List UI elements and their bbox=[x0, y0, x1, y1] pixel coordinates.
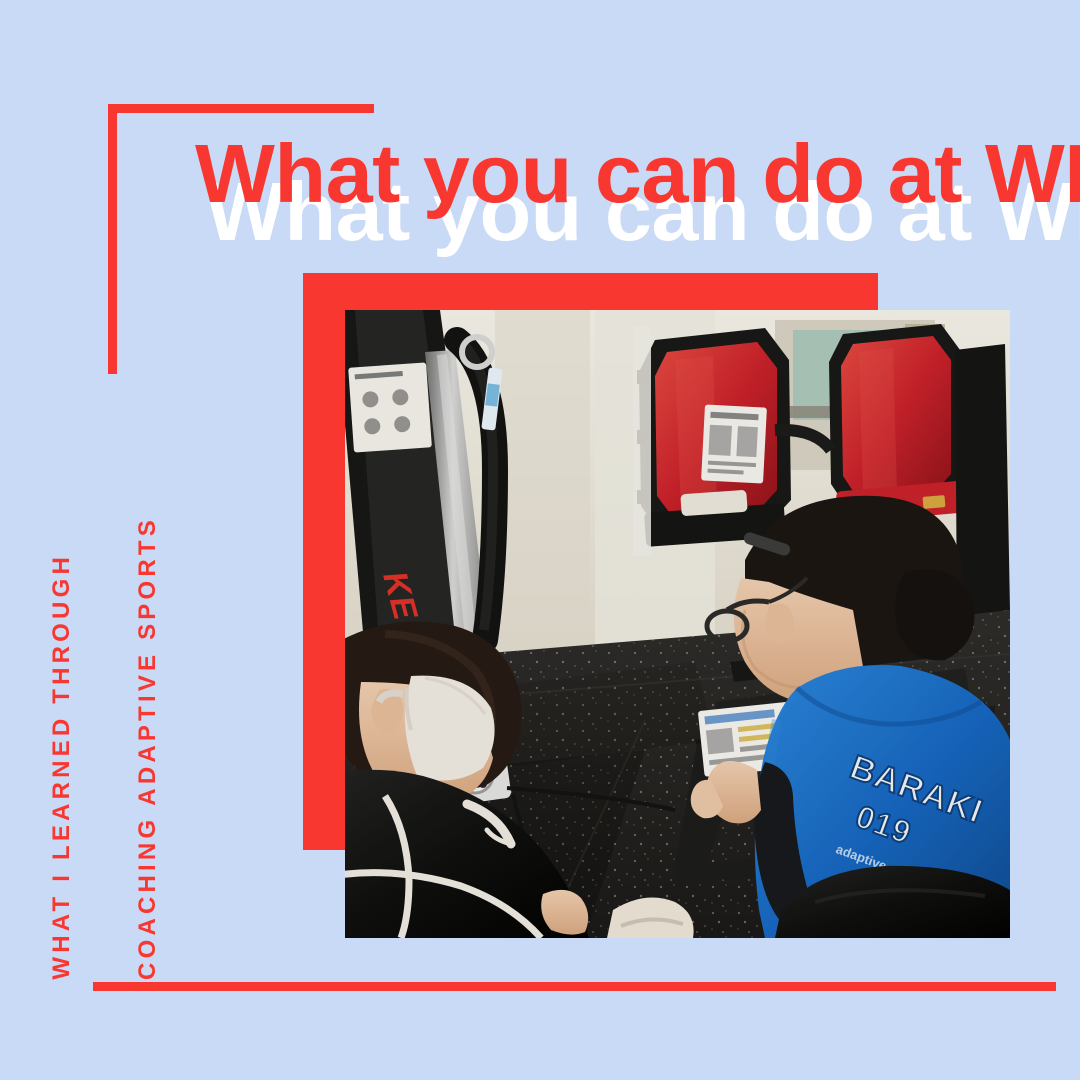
vertical-subtitle-line-2: COACHING ADAPTIVE SPORTS bbox=[134, 516, 162, 980]
top-left-bracket-horizontal-icon bbox=[108, 104, 374, 113]
gym-photo: KEISER bbox=[345, 310, 1010, 938]
top-left-bracket-vertical-icon bbox=[108, 104, 117, 374]
gym-photo-illustration: KEISER bbox=[345, 310, 1010, 938]
page-title-text: What you can do at WIT bbox=[195, 132, 1011, 215]
page-title: What you can do at WIT What you can do a… bbox=[195, 132, 995, 252]
poster-canvas: What you can do at WIT What you can do a… bbox=[0, 0, 1080, 1080]
vertical-subtitle-line-1: WHAT I LEARNED THROUGH bbox=[48, 553, 76, 980]
bottom-rule bbox=[93, 982, 1056, 991]
